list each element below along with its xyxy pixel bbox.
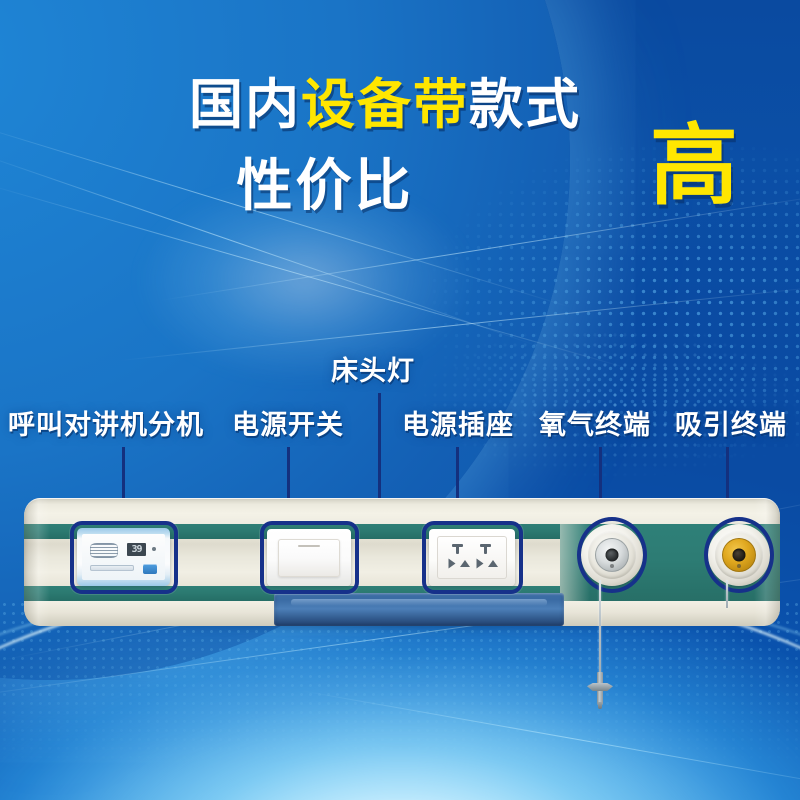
oxygen-probe-connector[interactable] <box>587 672 613 706</box>
headline-seg-2-accent: 设备带 <box>301 75 469 135</box>
headline-seg-3: 款式 <box>469 75 581 135</box>
callout-label-power-switch: 电源开关 <box>232 412 344 439</box>
highlight-box-power-switch <box>260 521 359 594</box>
headline-block: 国内设备带款式 性价比 高 <box>0 78 800 214</box>
callout-label-oxygen: 氧气终端 <box>539 412 651 439</box>
bed-head-unit: 39 <box>24 498 780 626</box>
highlight-box-intercom <box>70 521 178 594</box>
highlight-box-power-socket <box>422 521 523 594</box>
poster-stage: 国内设备带款式 性价比 高 呼叫对讲机分机 电源开关 床头灯 电源插座 氧气终端… <box>0 0 800 800</box>
callout-label-suction: 吸引终端 <box>675 412 787 439</box>
probe-tip <box>598 702 602 709</box>
bedside-lamp-light-strip[interactable] <box>274 593 564 626</box>
highlight-circle-suction <box>704 517 774 593</box>
headline-seg-1: 国内 <box>189 75 301 135</box>
oxygen-probe-cord <box>599 580 601 678</box>
highlight-circle-oxygen <box>577 517 647 593</box>
callout-label-power-socket: 电源插座 <box>402 412 514 439</box>
suction-probe-cord <box>726 580 728 608</box>
callout-label-intercom: 呼叫对讲机分机 <box>8 412 204 439</box>
headline-big-word: 高 <box>650 122 738 210</box>
callout-label-bedside-lamp: 床头灯 <box>331 358 415 385</box>
probe-cross-head-icon <box>587 683 613 691</box>
